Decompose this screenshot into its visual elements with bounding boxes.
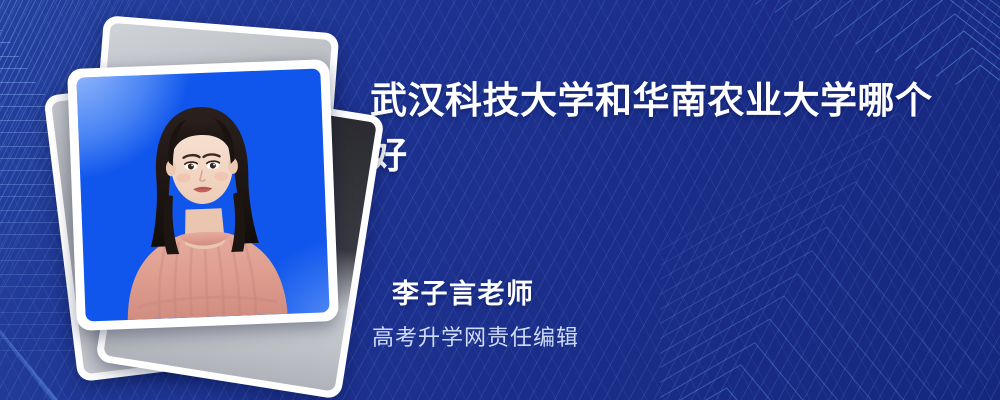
author-name: 李子言老师	[392, 272, 535, 311]
article-cover-banner: 武汉科技大学和华南农业大学哪个好 李子言老师 高考升学网责任编辑	[0, 0, 1000, 400]
photo-card-stack	[52, 18, 352, 368]
author-role: 高考升学网责任编辑	[372, 320, 579, 352]
author-photo-card	[67, 59, 339, 331]
page-title: 武汉科技大学和华南农业大学哪个好	[370, 74, 950, 184]
author-photo	[76, 68, 329, 321]
banner-text-column: 武汉科技大学和华南农业大学哪个好 李子言老师 高考升学网责任编辑	[370, 0, 970, 400]
portrait-illustration	[76, 68, 329, 321]
